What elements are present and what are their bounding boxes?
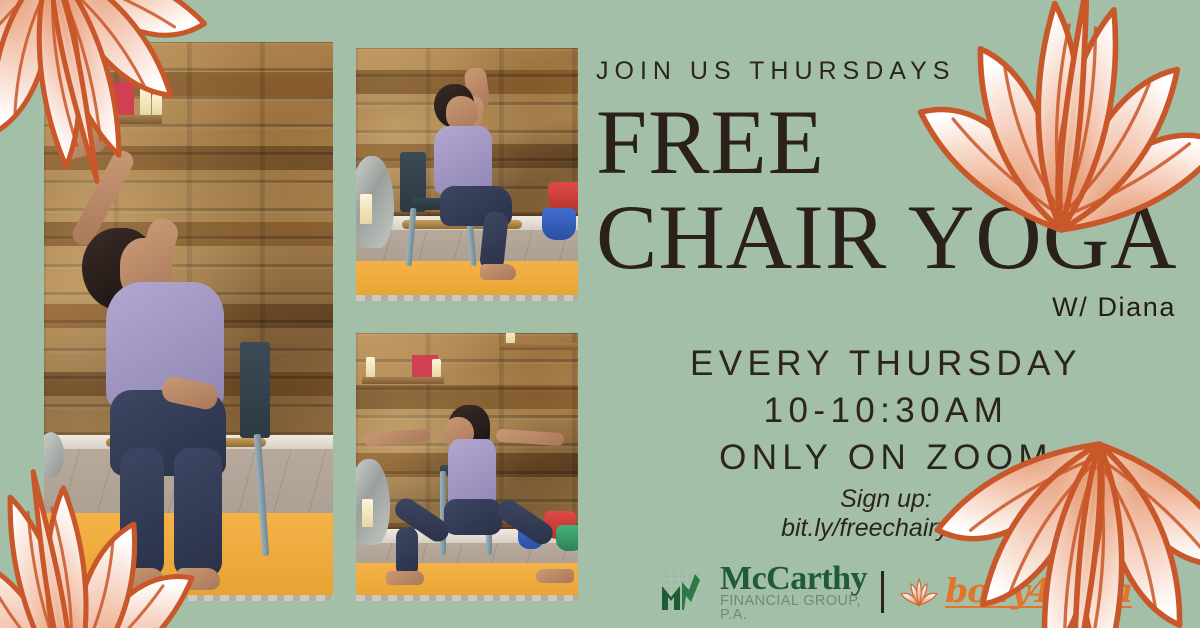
m-chart-icon [660, 570, 706, 614]
mccarthy-tagline: FINANCIAL GROUP, P.A. [720, 594, 867, 623]
schedule-line-day: EVERY THURSDAY [596, 344, 1176, 384]
kicker-text: JOIN US THURSDAYS [596, 57, 956, 86]
photo-seated-eagle-arms [356, 48, 578, 301]
flyer-canvas: JOIN US THURSDAYS FREE CHAIR YOGA W/ Dia… [0, 0, 1200, 628]
singing-bowl [542, 208, 576, 240]
mccarthy-name: McCarthy [720, 562, 867, 596]
logo-divider [881, 571, 884, 613]
lotus-bottom-right-icon [906, 378, 1200, 628]
chair-back [240, 342, 270, 438]
lotus-top-right-icon [892, 0, 1200, 296]
title-line-1: FREE [596, 103, 825, 182]
instructor-subtitle: W/ Diana [1052, 292, 1176, 323]
singing-bowl [556, 525, 578, 551]
photo-standing-warrior-two [356, 333, 578, 601]
mccarthy-wordmark: McCarthy FINANCIAL GROUP, P.A. [720, 562, 867, 623]
